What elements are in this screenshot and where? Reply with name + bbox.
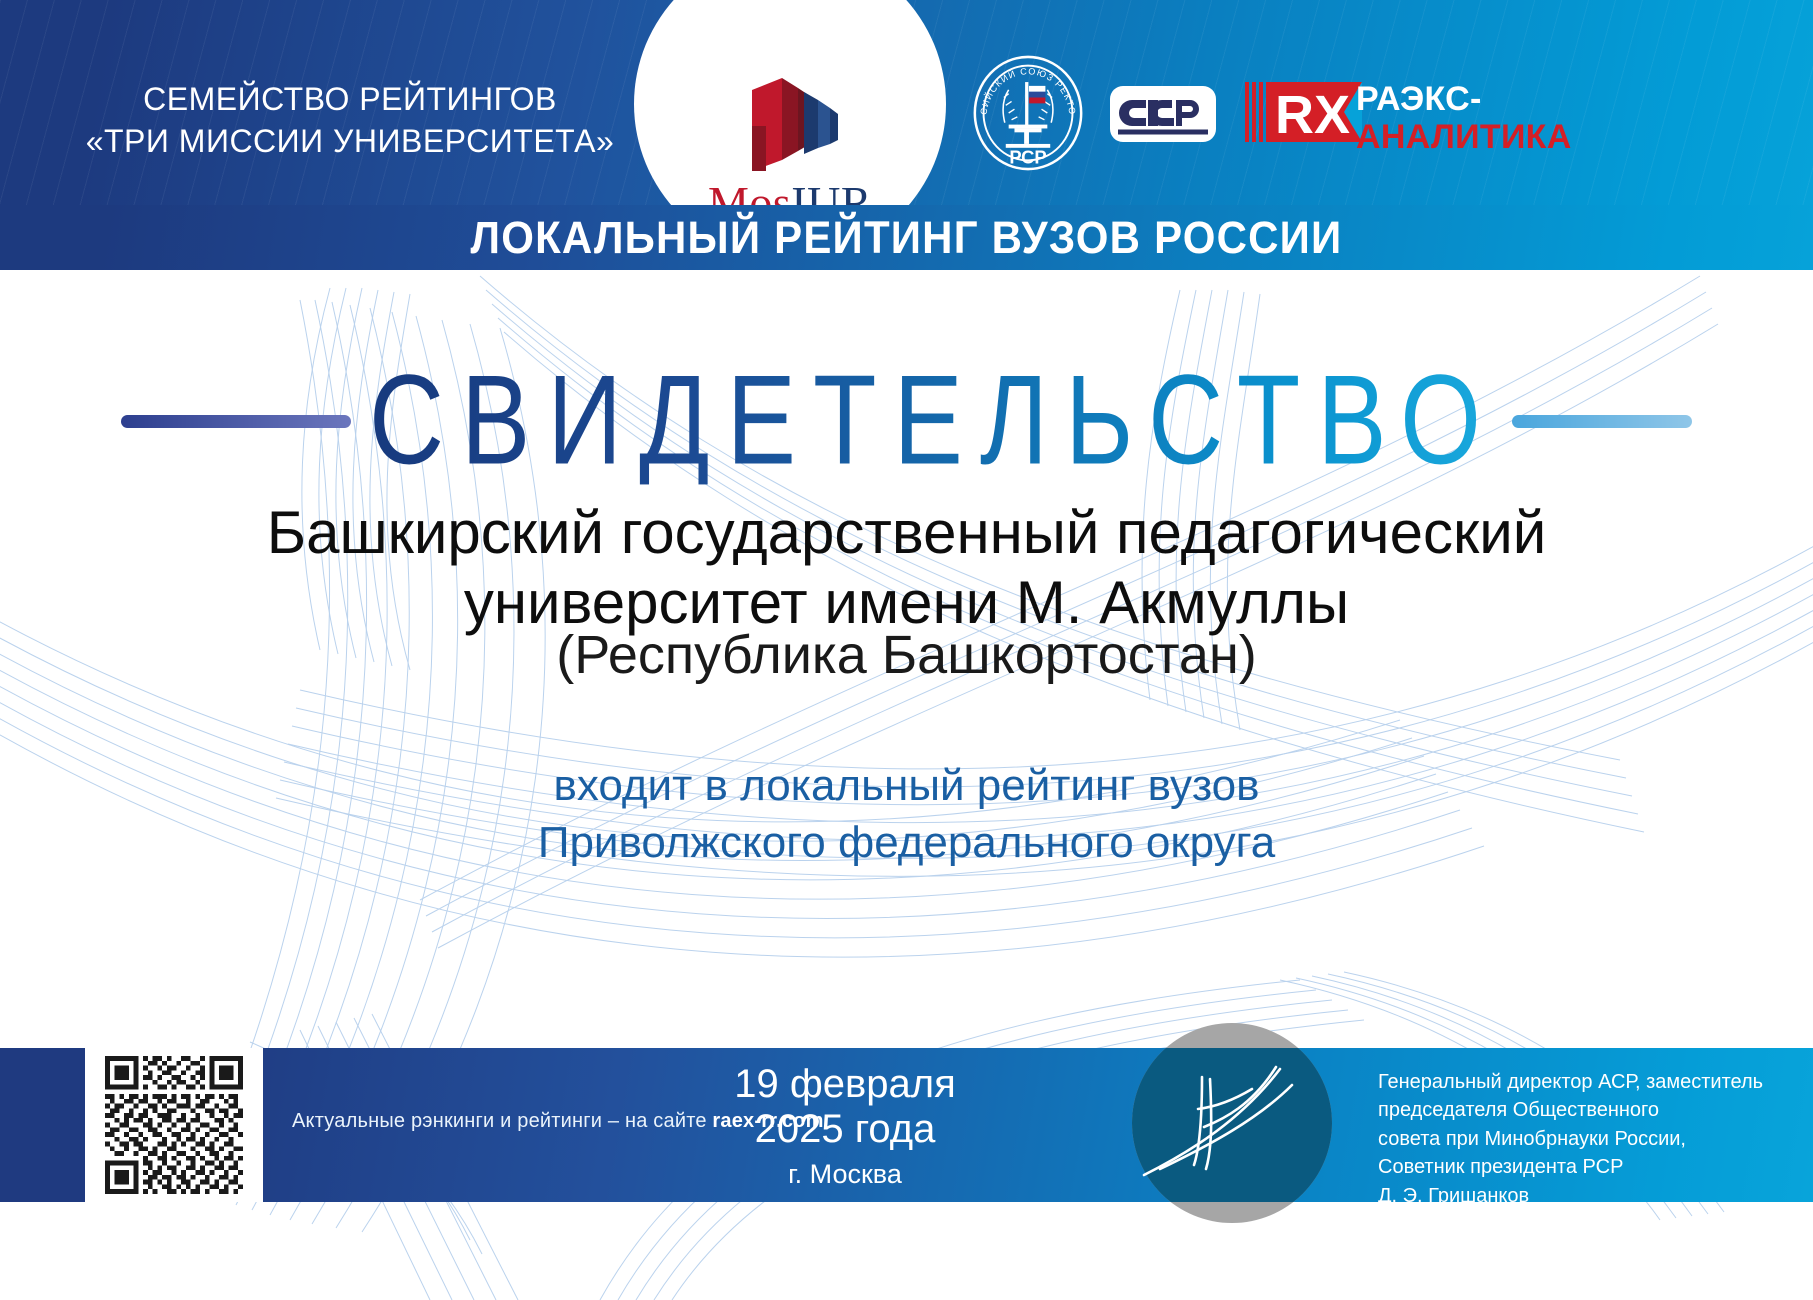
svg-text:РСР: РСР bbox=[1009, 146, 1046, 167]
raex-wordmark-line2: АНАЛИТИКА bbox=[1356, 120, 1572, 154]
signatory-name: Д. Э. Гришанков bbox=[1378, 1182, 1778, 1210]
inclusion-statement: входит в локальный рейтинг вузов Приволж… bbox=[120, 757, 1693, 871]
issue-date-year: 2025 года bbox=[640, 1107, 1050, 1152]
asr-logo-icon bbox=[1110, 86, 1216, 142]
rsr-seal-icon: РОССИЙСКИЙ СОЮЗ РЕКТОРОВ РСР bbox=[970, 55, 1086, 171]
title-rule-left bbox=[121, 415, 351, 428]
svg-text:РОССИЙСКИЙ СОЮЗ РЕКТОРОВ: РОССИЙСКИЙ СОЮЗ РЕКТОРОВ bbox=[970, 55, 1078, 116]
mosiur-building-icon bbox=[720, 68, 860, 176]
inclusion-statement-line1: входит в локальный рейтинг вузов bbox=[120, 757, 1693, 814]
raex-wordmark: РАЭКС- АНАЛИТИКА bbox=[1356, 82, 1572, 154]
university-name: Башкирский государственный педагогически… bbox=[120, 498, 1693, 637]
issue-city: г. Москва bbox=[640, 1158, 1050, 1190]
signature-icon bbox=[1132, 1023, 1332, 1223]
issue-date-block: 19 февраля 2025 года г. Москва bbox=[640, 1062, 1050, 1190]
certificate-page: СЕМЕЙСТВО РЕЙТИНГОВ «ТРИ МИССИИ УНИВЕРСИ… bbox=[0, 0, 1813, 1300]
rating-banner-text: ЛОКАЛЬНЫЙ РЕЙТИНГ ВУЗОВ РОССИИ bbox=[471, 212, 1343, 264]
asr-logo bbox=[1110, 86, 1216, 142]
signatory-line3: совета при Минобрнауки России, bbox=[1378, 1125, 1778, 1153]
certificate-title-row: СВИДЕТЕЛЬСТВО bbox=[0, 366, 1813, 476]
rating-family-title-line2: «ТРИ МИССИИ УНИВЕРСИТЕТА» bbox=[70, 120, 630, 162]
signatory-line1: Генеральный директор АСР, заместитель bbox=[1378, 1068, 1778, 1096]
certificate-header: СЕМЕЙСТВО РЕЙТИНГОВ «ТРИ МИССИИ УНИВЕРСИ… bbox=[0, 0, 1813, 205]
svg-text:RX: RX bbox=[1275, 85, 1350, 145]
signatory-line4: Советник президента РСР bbox=[1378, 1153, 1778, 1181]
inclusion-statement-line2: Приволжского федерального округа bbox=[120, 814, 1693, 871]
rating-family-title-line1: СЕМЕЙСТВО РЕЙТИНГОВ bbox=[70, 78, 630, 120]
signatory-block: Генеральный директор АСР, заместитель пр… bbox=[1378, 1068, 1778, 1210]
page-title: СВИДЕТЕЛЬСТВО bbox=[369, 358, 1498, 485]
raex-wordmark-line1: РАЭКС- bbox=[1356, 82, 1572, 116]
signatory-line2: председателя Общественного bbox=[1378, 1096, 1778, 1124]
issue-date-day-month: 19 февраля bbox=[640, 1062, 1050, 1107]
raex-logo-icon: RX bbox=[1245, 78, 1365, 146]
title-rule-right bbox=[1512, 415, 1692, 428]
university-region: (Республика Башкортостан) bbox=[120, 625, 1693, 685]
qr-code[interactable] bbox=[90, 1056, 258, 1194]
rating-family-title: СЕМЕЙСТВО РЕЙТИНГОВ «ТРИ МИССИИ УНИВЕРСИ… bbox=[70, 78, 630, 162]
rating-banner: ЛОКАЛЬНЫЙ РЕЙТИНГ ВУЗОВ РОССИИ bbox=[0, 205, 1813, 270]
